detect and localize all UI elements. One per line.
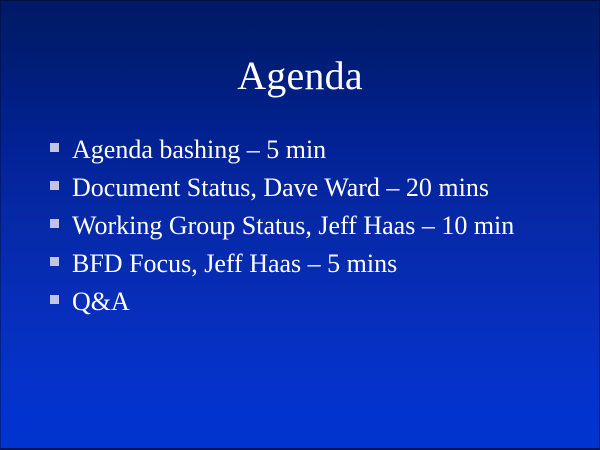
list-item-label: BFD Focus, Jeff Haas – 5 mins	[72, 246, 570, 282]
agenda-bullet-list: Agenda bashing – 5 min Document Status, …	[50, 132, 570, 322]
list-item: Working Group Status, Jeff Haas – 10 min	[50, 208, 570, 246]
list-item: Document Status, Dave Ward – 20 mins	[50, 170, 570, 208]
square-bullet-icon	[50, 143, 59, 152]
list-item: Agenda bashing – 5 min	[50, 132, 570, 170]
list-item-label: Agenda bashing – 5 min	[72, 132, 570, 168]
list-item-label: Q&A	[72, 284, 570, 320]
list-item-label: Working Group Status, Jeff Haas – 10 min	[72, 208, 570, 244]
square-bullet-icon	[50, 219, 59, 228]
square-bullet-icon	[50, 181, 59, 190]
page-title: Agenda	[0, 53, 600, 99]
list-item: Q&A	[50, 284, 570, 322]
square-bullet-icon	[50, 257, 59, 266]
list-item: BFD Focus, Jeff Haas – 5 mins	[50, 246, 570, 284]
square-bullet-icon	[50, 295, 59, 304]
presentation-slide: Agenda Agenda bashing – 5 min Document S…	[0, 0, 600, 450]
list-item-label: Document Status, Dave Ward – 20 mins	[72, 170, 570, 206]
